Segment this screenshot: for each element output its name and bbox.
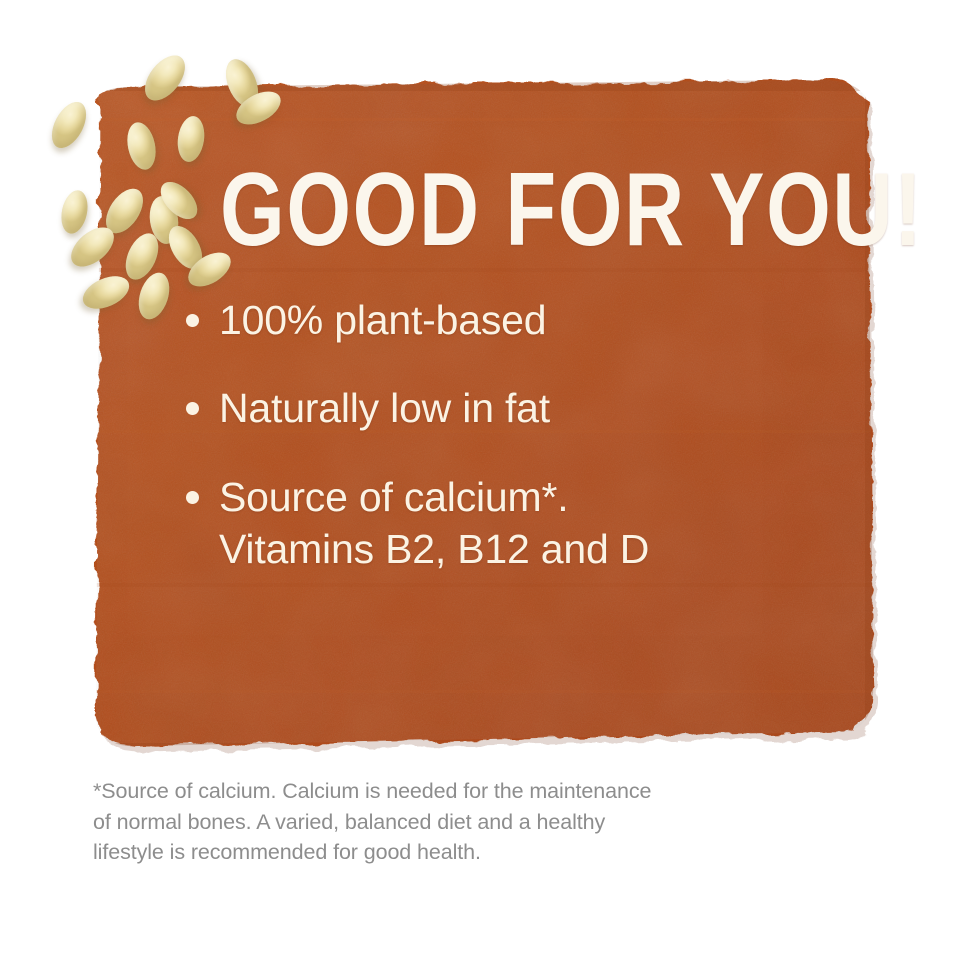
- list-item-label: Naturally low in fat: [219, 382, 550, 434]
- benefit-list: 100% plant-based Naturally low in fat So…: [186, 294, 826, 576]
- bullet-dot-icon: [186, 314, 199, 327]
- list-item: Naturally low in fat: [186, 382, 826, 434]
- bullet-dot-icon: [186, 402, 199, 415]
- bullet-dot-icon: [186, 491, 199, 504]
- list-item-label: Source of calcium*. Vitamins B2, B12 and…: [219, 471, 649, 576]
- page-title: GOOD FOR YOU!: [220, 158, 923, 262]
- list-item: 100% plant-based: [186, 294, 826, 346]
- list-item-label: 100% plant-based: [219, 294, 546, 346]
- footnote-disclaimer: *Source of calcium. Calcium is needed fo…: [93, 776, 753, 868]
- list-item: Source of calcium*. Vitamins B2, B12 and…: [186, 471, 826, 576]
- promo-graphic: GOOD FOR YOU! 100% plant-based Naturally…: [0, 0, 960, 960]
